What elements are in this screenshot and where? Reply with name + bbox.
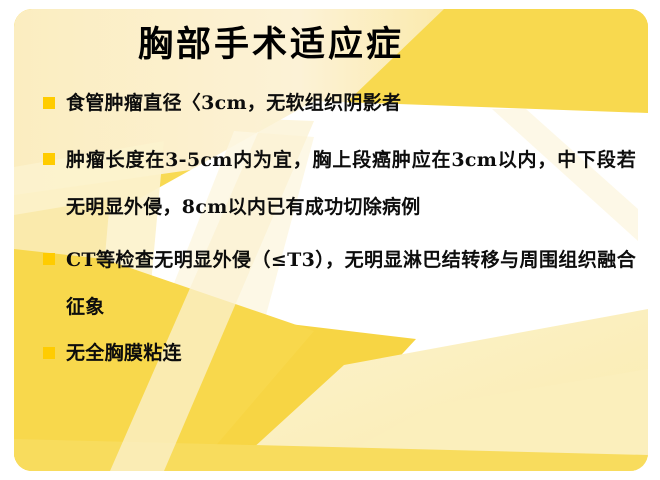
square-bullet-icon	[43, 253, 55, 265]
square-bullet-icon	[43, 153, 55, 165]
list-item-label: 食管肿瘤直径〈3cm，无软组织阴影者	[66, 87, 636, 119]
page-title: 胸部手术适应症	[14, 23, 648, 67]
list-item-label: 无全胸膜粘连	[66, 337, 636, 369]
slide-content: 胸部手术适应症 食管肿瘤直径〈3cm，无软组织阴影者 肿瘤长度在3-5cm内为宜…	[14, 9, 648, 471]
list-item[interactable]: 肿瘤长度在3-5cm内为宜，胸上段癌肿应在3cm以内，中下段若无明显外侵，8cm…	[40, 137, 636, 231]
list-item-label: CT等检查无明显外侵（≤T3），无明显淋巴结转移与周围组织融合征象	[66, 237, 636, 331]
list-item-label: 肿瘤长度在3-5cm内为宜，胸上段癌肿应在3cm以内，中下段若无明显外侵，8cm…	[66, 137, 636, 231]
list-item[interactable]: CT等检查无明显外侵（≤T3），无明显淋巴结转移与周围组织融合征象	[40, 237, 636, 331]
square-bullet-icon	[43, 97, 55, 109]
square-bullet-icon	[43, 347, 55, 359]
bullet-list: 食管肿瘤直径〈3cm，无软组织阴影者 肿瘤长度在3-5cm内为宜，胸上段癌肿应在…	[40, 87, 636, 379]
list-item[interactable]: 无全胸膜粘连	[40, 337, 636, 369]
slide-card: 胸部手术适应症 食管肿瘤直径〈3cm，无软组织阴影者 肿瘤长度在3-5cm内为宜…	[14, 9, 648, 471]
list-item[interactable]: 食管肿瘤直径〈3cm，无软组织阴影者	[40, 87, 636, 119]
slide-root: 胸部手术适应症 食管肿瘤直径〈3cm，无软组织阴影者 肿瘤长度在3-5cm内为宜…	[0, 0, 660, 480]
